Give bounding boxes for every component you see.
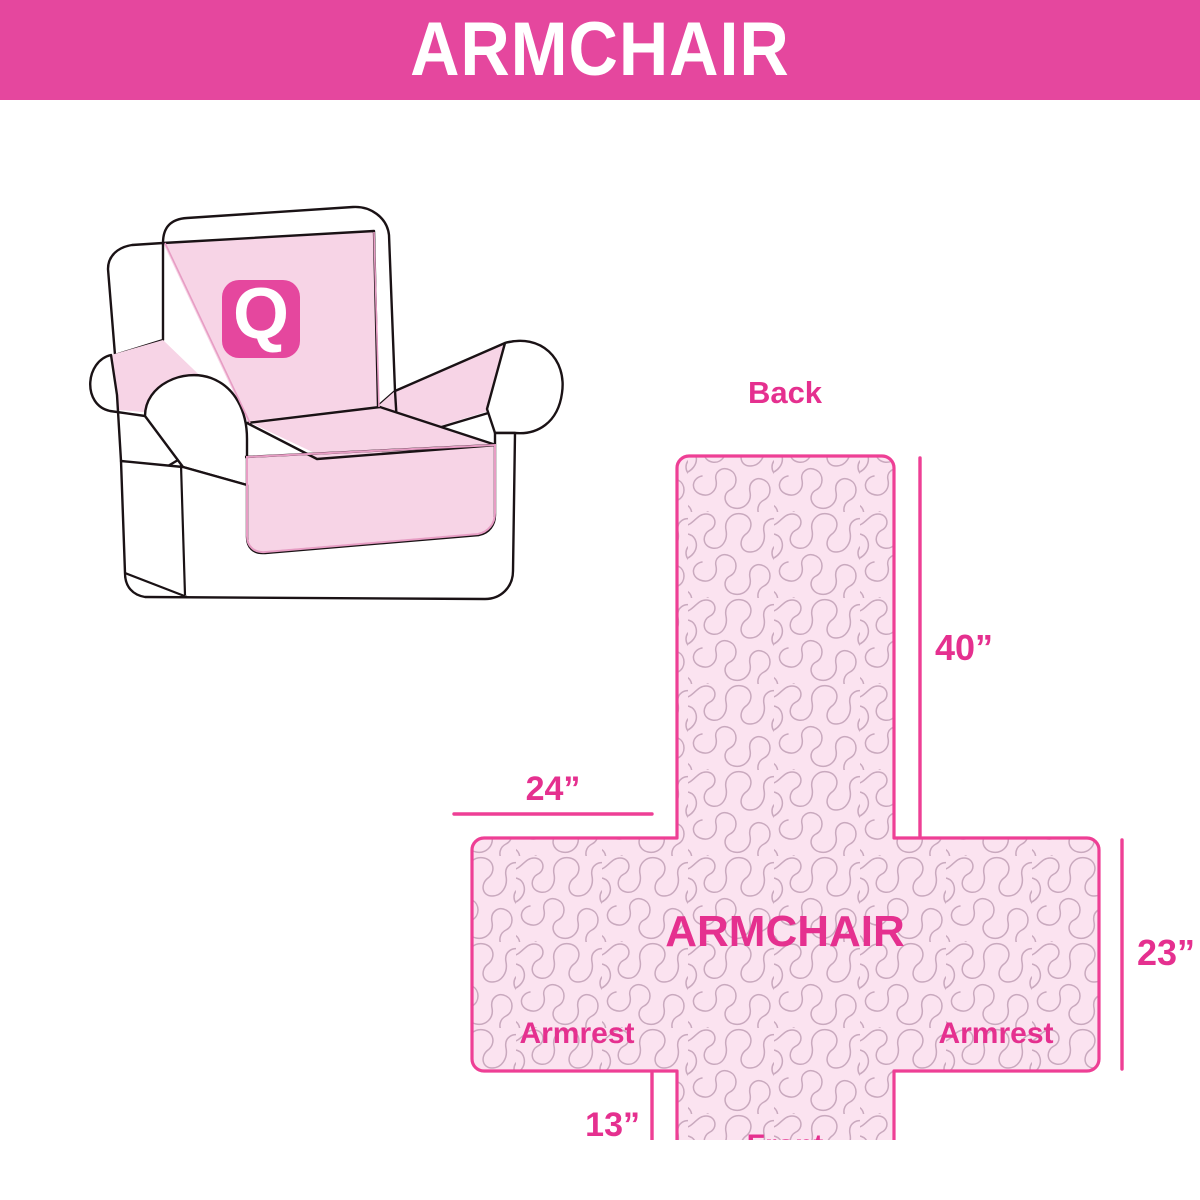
- panel-label-front: Front: [747, 1129, 824, 1140]
- chair-backrest-left-side: [108, 243, 163, 355]
- panel-label-back: Back: [748, 375, 823, 410]
- dimension-front-height: 13”: [585, 1073, 652, 1140]
- slipcover-cross-diagram: Back ARMCHAIR Armrest Armrest Front 40” …: [430, 340, 1200, 1140]
- content-area: Q: [0, 100, 1200, 1200]
- dimension-back-height: 40”: [920, 458, 993, 836]
- dimension-value-23: 23”: [1137, 932, 1195, 973]
- page-title: ARMCHAIR: [410, 12, 790, 88]
- dimension-value-13: 13”: [585, 1106, 640, 1140]
- panel-label-center: ARMCHAIR: [665, 907, 905, 956]
- brand-logo-badge: Q: [222, 274, 300, 358]
- dimension-armrest-left-width: 24”: [454, 770, 652, 814]
- dimension-value-40: 40”: [935, 627, 993, 668]
- dimension-value-24-top: 24”: [526, 770, 581, 808]
- panel-label-armrest-left: Armrest: [519, 1017, 634, 1050]
- dimension-seat-depth: 23”: [1122, 840, 1195, 1069]
- logo-letter-q: Q: [233, 274, 289, 354]
- header-banner: ARMCHAIR: [0, 0, 1200, 100]
- panel-label-armrest-right: Armrest: [938, 1017, 1053, 1050]
